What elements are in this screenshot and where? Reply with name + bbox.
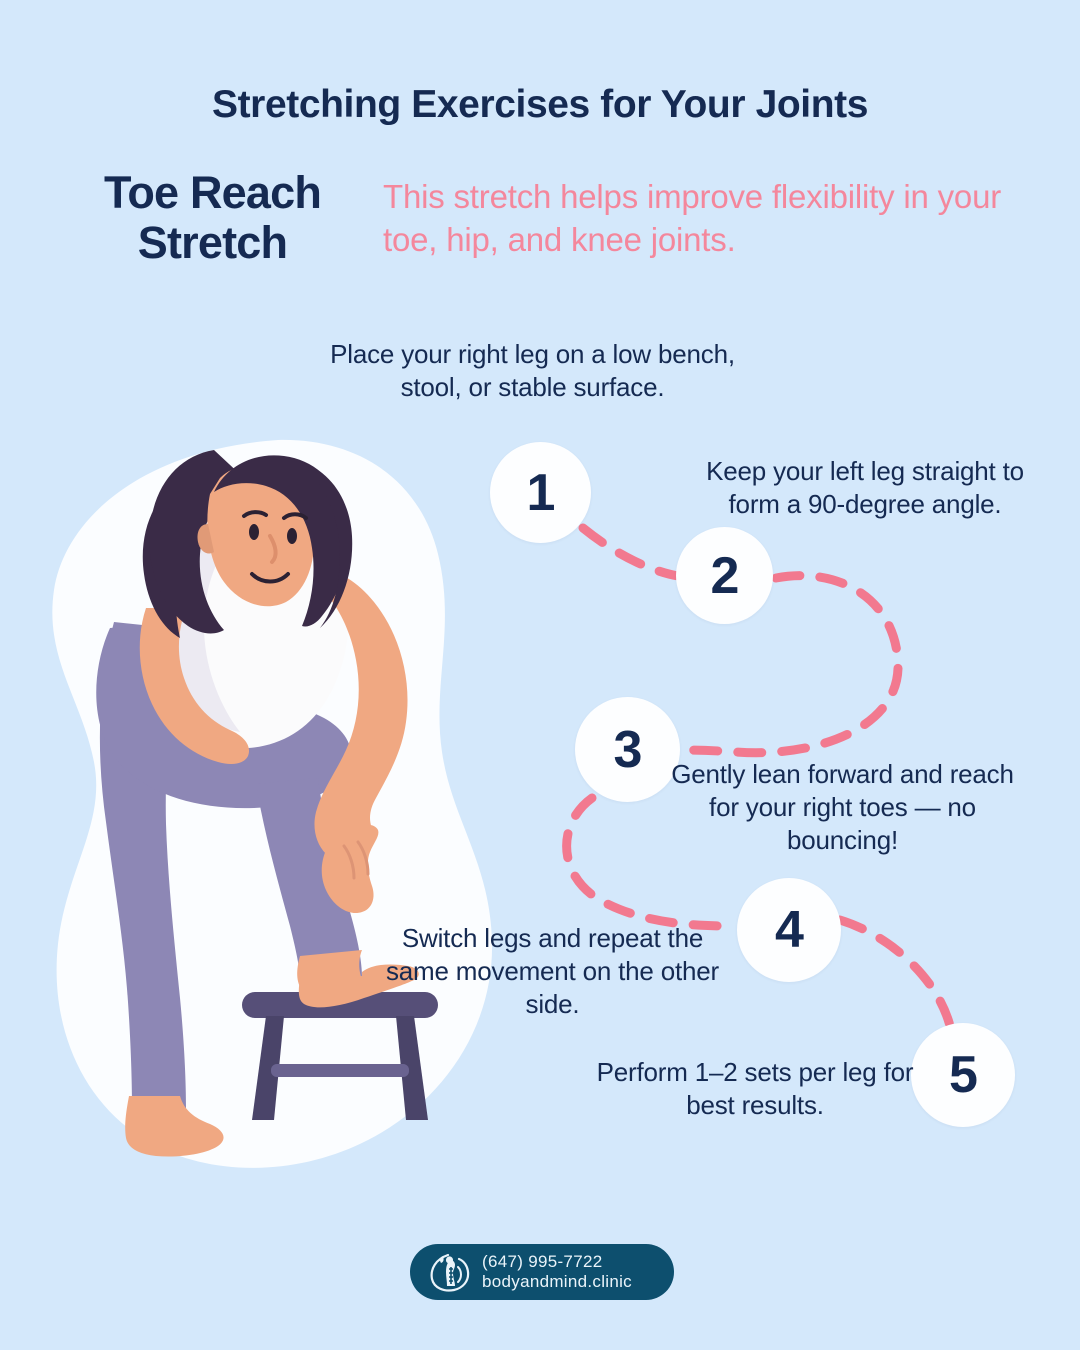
- step-circle-2: 2: [676, 527, 773, 624]
- phone-number[interactable]: (647) 995-7722: [482, 1252, 632, 1272]
- step-circle-5: 5: [911, 1023, 1015, 1127]
- step-circle-1: 1: [490, 442, 591, 543]
- step-number: 5: [949, 1049, 977, 1101]
- step-text-5: Perform 1–2 sets per leg for best result…: [590, 1056, 920, 1122]
- step-text-2: Keep your left leg straight to form a 90…: [700, 455, 1030, 521]
- website-url[interactable]: bodyandmind.clinic: [482, 1272, 632, 1292]
- exercise-illustration: [28, 432, 558, 1212]
- step-circle-4: 4: [737, 878, 841, 982]
- step-text-1: Place your right leg on a low bench, sto…: [330, 338, 735, 404]
- step-number: 4: [775, 904, 803, 956]
- infographic-poster: Stretching Exercises for Your Joints Toe…: [0, 0, 1080, 1350]
- step-number: 2: [711, 550, 739, 602]
- badge-text-group: (647) 995-7722 bodyandmind.clinic: [482, 1252, 632, 1292]
- step-text-3: Gently lean forward and reach for your r…: [655, 758, 1030, 856]
- body-and-mind-spine-logo-icon: [428, 1251, 472, 1293]
- page-title: Stretching Exercises for Your Joints: [0, 84, 1080, 127]
- exercise-description: This stretch helps improve flexibility i…: [383, 176, 1055, 262]
- step-number: 1: [527, 467, 555, 519]
- contact-badge[interactable]: (647) 995-7722 bodyandmind.clinic: [410, 1244, 674, 1300]
- exercise-name: Toe Reach Stretch: [50, 168, 375, 269]
- step-text-4: Switch legs and repeat the same movement…: [370, 922, 735, 1020]
- step-number: 3: [614, 724, 642, 776]
